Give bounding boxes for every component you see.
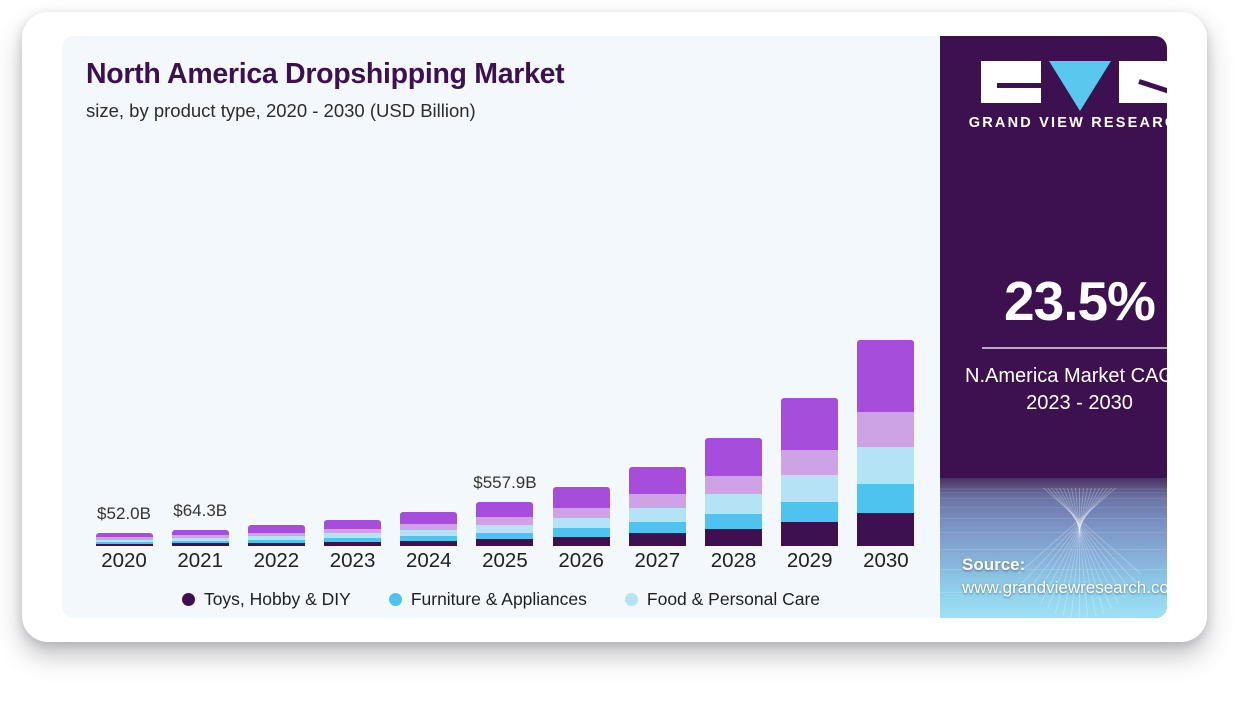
- bar-value-label: $52.0B: [97, 504, 151, 524]
- bar-segment[interactable]: [553, 508, 610, 518]
- x-axis-tick: 2022: [238, 549, 314, 573]
- cagr-value: 23.5%: [940, 274, 1167, 329]
- bar-segment[interactable]: [781, 475, 838, 502]
- legend-swatch-icon: [182, 593, 195, 606]
- bar-stack[interactable]: [629, 467, 686, 546]
- bar-segment[interactable]: [629, 522, 686, 533]
- bar-segment[interactable]: [324, 542, 381, 546]
- legend-row: Toys, Hobby & DIYFurniture & AppliancesF…: [182, 589, 820, 610]
- bar-segment[interactable]: [476, 525, 533, 533]
- bar-column[interactable]: [772, 398, 848, 546]
- x-axis-tick: 2024: [391, 549, 467, 573]
- bar-segment[interactable]: [629, 508, 686, 522]
- bar-segment[interactable]: [705, 529, 762, 546]
- grid-horizontal-line: [940, 507, 1167, 508]
- x-axis-tick: 2021: [162, 549, 238, 573]
- legend-label: Furniture & Appliances: [411, 589, 587, 610]
- bar-segment[interactable]: [705, 494, 762, 513]
- chart-legend: Toys, Hobby & DIYFurniture & AppliancesF…: [62, 589, 940, 618]
- legend-item[interactable]: Furniture & Appliances: [389, 589, 587, 610]
- bar-segment[interactable]: [705, 438, 762, 476]
- bar-value-label: $64.3B: [173, 501, 227, 521]
- bar-value-label: $557.9B: [473, 473, 536, 493]
- inner-panel: North America Dropshipping Market size, …: [62, 36, 1167, 618]
- bar-column[interactable]: [238, 525, 314, 546]
- bar-stack[interactable]: [781, 398, 838, 546]
- bar-column[interactable]: $52.0B: [86, 533, 162, 546]
- gvr-logo-block-g-icon: [981, 61, 1041, 103]
- legend-label: Toys, Hobby & DIY: [204, 589, 351, 610]
- bar-segment[interactable]: [857, 340, 914, 412]
- gvr-logo-block-r-icon: [1119, 61, 1168, 103]
- legend-swatch-icon: [389, 593, 402, 606]
- bar-segment[interactable]: [705, 514, 762, 529]
- legend-item[interactable]: Toys, Hobby & DIY: [182, 589, 351, 610]
- bar-series-container: $52.0B$64.3B$557.9B: [86, 146, 924, 546]
- outer-card: North America Dropshipping Market size, …: [22, 12, 1207, 642]
- bar-segment[interactable]: [629, 467, 686, 495]
- page-title: North America Dropshipping Market: [86, 58, 564, 91]
- bar-segment[interactable]: [553, 487, 610, 508]
- bar-segment[interactable]: [400, 512, 457, 524]
- cagr-divider: [982, 347, 1168, 349]
- chart-area: North America Dropshipping Market size, …: [62, 36, 940, 618]
- bar-column[interactable]: [696, 438, 772, 546]
- source-label: Source:: [962, 555, 1167, 575]
- cagr-description-line2: 2023 - 2030: [940, 390, 1167, 417]
- infographic-root: North America Dropshipping Market size, …: [0, 0, 1245, 713]
- x-axis-tick: 2025: [467, 549, 543, 573]
- bar-segment[interactable]: [400, 541, 457, 546]
- legend-item[interactable]: Food & Personal Care: [625, 589, 820, 610]
- grid-horizontal-line: [940, 518, 1167, 519]
- bar-segment[interactable]: [324, 520, 381, 529]
- bar-stack[interactable]: [857, 340, 914, 546]
- bar-segment[interactable]: [553, 528, 610, 536]
- plot-region: $52.0B$64.3B$557.9B: [86, 146, 924, 546]
- x-axis-tick: 2030: [848, 549, 924, 573]
- bar-stack[interactable]: [248, 525, 305, 546]
- bar-segment[interactable]: [857, 484, 914, 513]
- legend-swatch-icon: [625, 593, 638, 606]
- logo-marks: [981, 61, 1168, 105]
- x-axis-tick: 2020: [86, 549, 162, 573]
- x-axis-tick: 2028: [696, 549, 772, 573]
- bar-segment[interactable]: [857, 412, 914, 447]
- x-axis-tick: 2023: [315, 549, 391, 573]
- bar-column[interactable]: [543, 487, 619, 546]
- grid-horizontal-line: [940, 498, 1167, 499]
- bar-column[interactable]: [619, 467, 695, 546]
- grid-horizontal-line: [940, 532, 1167, 533]
- bar-column[interactable]: [391, 512, 467, 546]
- bar-segment[interactable]: [781, 522, 838, 546]
- bar-segment[interactable]: [857, 513, 914, 546]
- bar-segment[interactable]: [476, 517, 533, 525]
- bar-column[interactable]: $64.3B: [162, 530, 238, 546]
- bar-segment[interactable]: [629, 494, 686, 507]
- chart-header: North America Dropshipping Market size, …: [86, 58, 564, 122]
- page-subtitle: size, by product type, 2020 - 2030 (USD …: [86, 100, 564, 122]
- bar-stack[interactable]: [172, 530, 229, 546]
- grid-vertical-line: [1079, 488, 1080, 618]
- cagr-description-line1: N.America Market CAGR,: [940, 363, 1167, 390]
- x-axis-tick: 2026: [543, 549, 619, 573]
- bar-segment[interactable]: [857, 447, 914, 484]
- bar-segment[interactable]: [553, 518, 610, 529]
- bar-segment[interactable]: [248, 525, 305, 532]
- bar-segment[interactable]: [248, 543, 305, 546]
- cagr-description: N.America Market CAGR, 2023 - 2030: [940, 363, 1167, 417]
- bar-stack[interactable]: [400, 512, 457, 546]
- bar-stack[interactable]: [324, 520, 381, 546]
- bar-segment[interactable]: [705, 476, 762, 494]
- bar-column[interactable]: [315, 520, 391, 546]
- brand-logo: GRAND VIEW RESEARCH: [940, 61, 1167, 131]
- bar-stack[interactable]: [96, 533, 153, 546]
- bar-segment[interactable]: [781, 502, 838, 523]
- legend-label: Food & Personal Care: [647, 589, 820, 610]
- x-axis-tick: 2027: [619, 549, 695, 573]
- bar-column[interactable]: $557.9B: [467, 502, 543, 546]
- brand-wordmark: GRAND VIEW RESEARCH: [969, 115, 1167, 131]
- bar-segment[interactable]: [172, 543, 229, 546]
- bar-segment[interactable]: [476, 539, 533, 546]
- brand-panel: GRAND VIEW RESEARCH 23.5% N.America Mark…: [940, 36, 1167, 618]
- cagr-callout: 23.5% N.America Market CAGR, 2023 - 2030: [940, 274, 1167, 417]
- source-url: www.grandviewresearch.com: [962, 578, 1167, 598]
- bar-segment[interactable]: [781, 398, 838, 450]
- bar-segment[interactable]: [629, 533, 686, 546]
- bar-column[interactable]: [848, 340, 924, 546]
- bar-segment[interactable]: [781, 450, 838, 475]
- source-attribution: Source: www.grandviewresearch.com: [962, 555, 1167, 598]
- bar-segment[interactable]: [553, 537, 610, 546]
- x-axis-tick: 2029: [772, 549, 848, 573]
- bar-segment[interactable]: [476, 502, 533, 518]
- x-axis-tick-labels: 2020202120222023202420252026202720282029…: [86, 549, 924, 573]
- bar-stack[interactable]: [705, 438, 762, 546]
- bar-stack[interactable]: [553, 487, 610, 546]
- bar-stack[interactable]: [476, 502, 533, 546]
- gvr-logo-triangle-v-icon: [1049, 61, 1111, 111]
- bar-segment[interactable]: [96, 544, 153, 546]
